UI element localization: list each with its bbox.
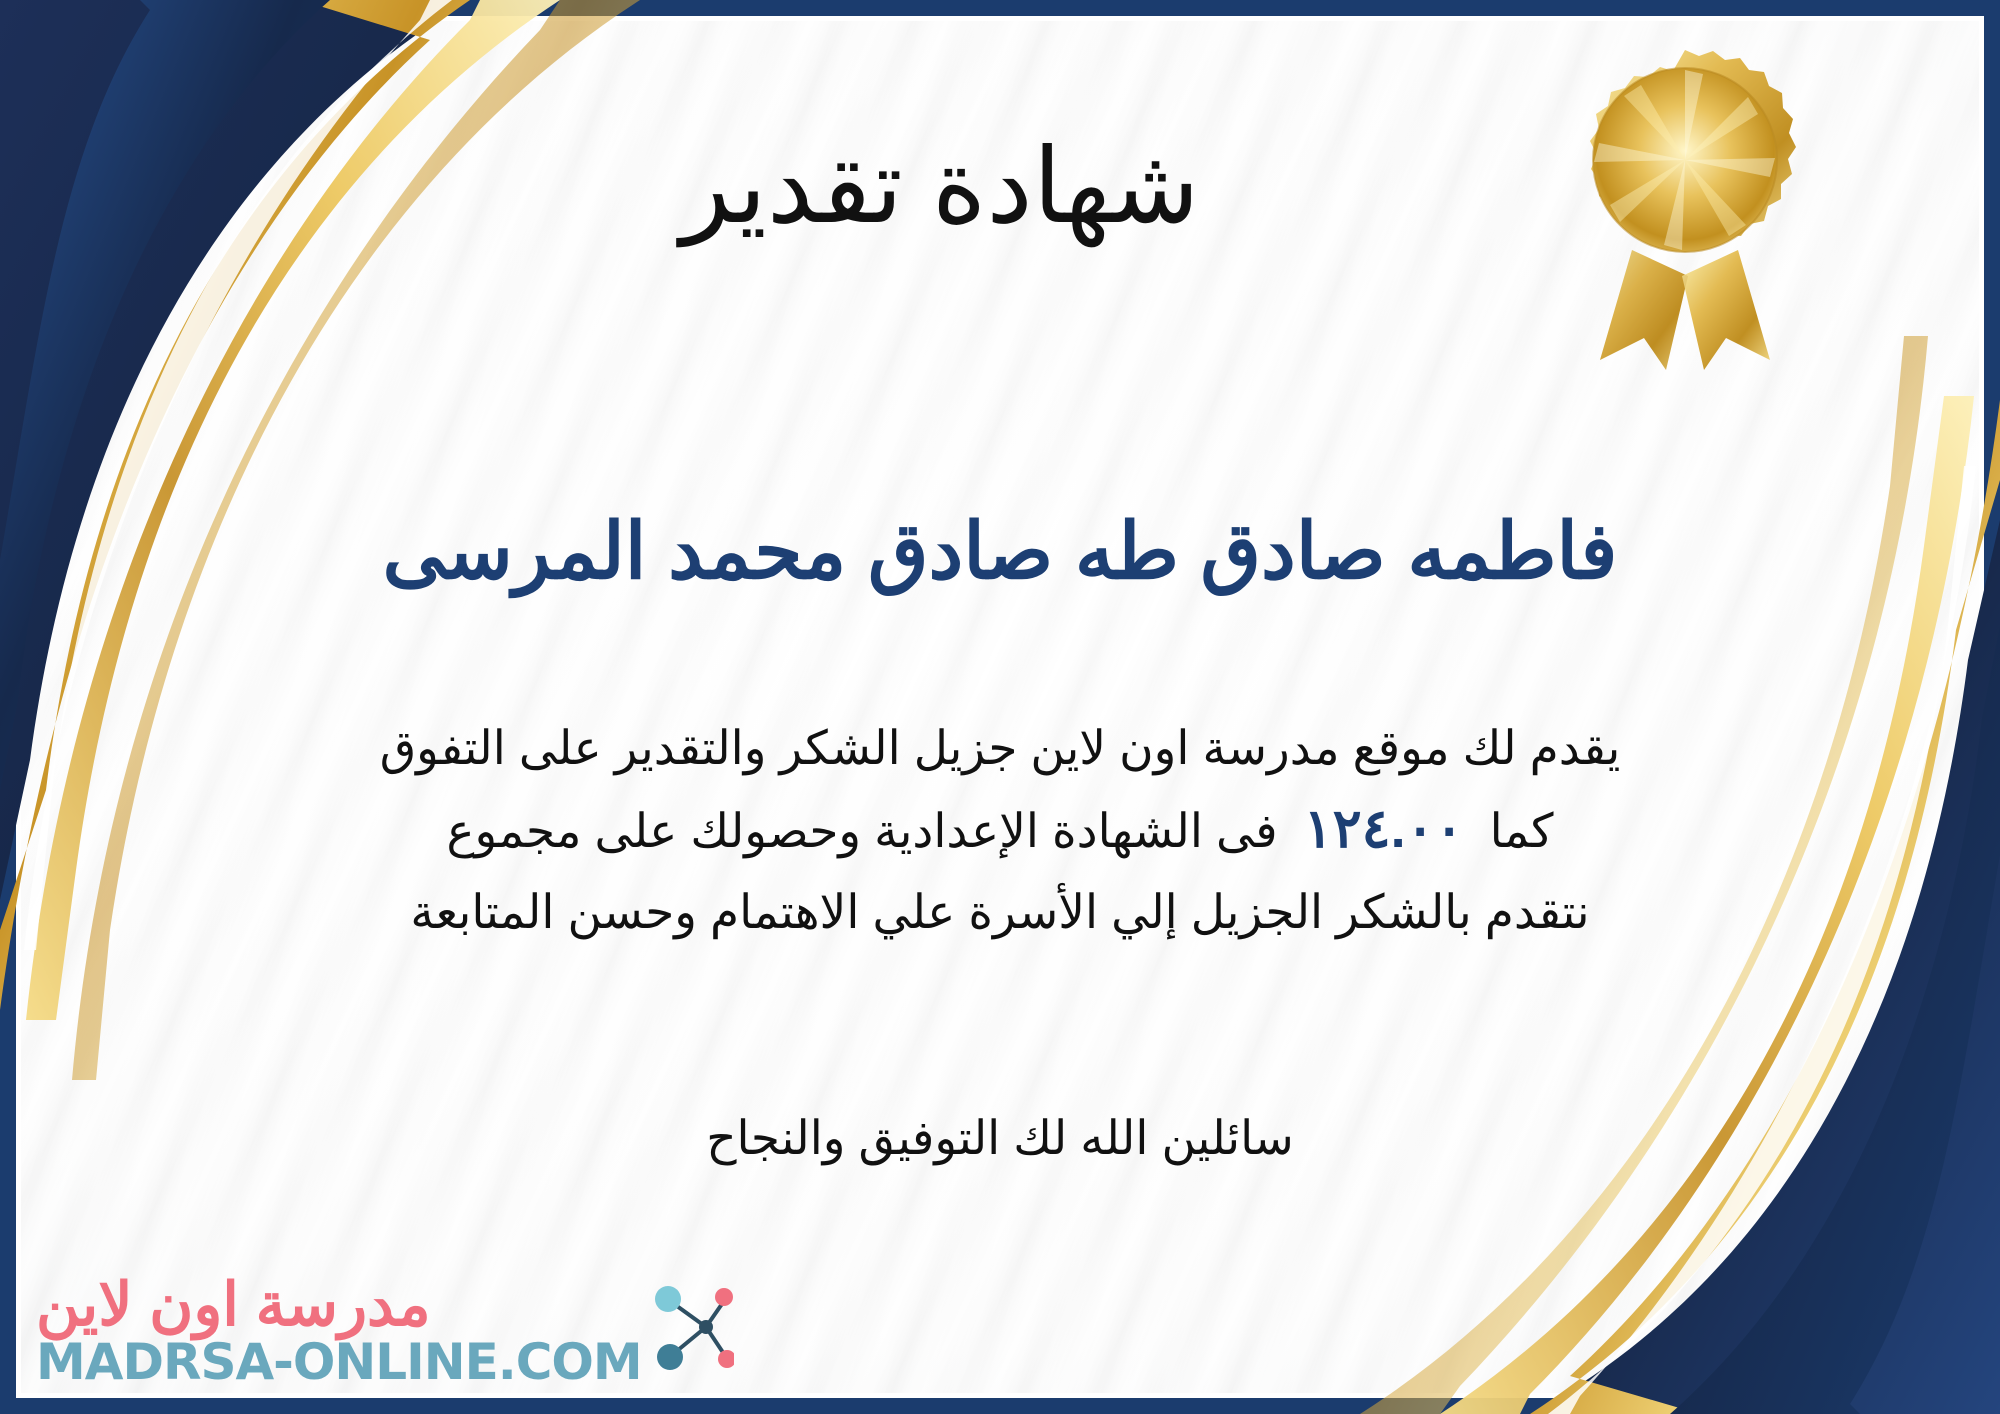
brand-logo-text: مدرسة اون لاين MADRSA-ONLINE.COM (36, 1273, 642, 1389)
body-line-1: يقدم لك موقع مدرسة اون لاين جزيل الشكر و… (60, 710, 1940, 786)
brand-name-arabic: مدرسة اون لاين (36, 1273, 431, 1336)
brand-logo[interactable]: مدرسة اون لاين MADRSA-ONLINE.COM (36, 1273, 734, 1389)
certificate-canvas: شهادة تقدير فاطمه صادق طه صادق محمد المر… (0, 0, 2000, 1414)
body-line-2-suffix: كما (1490, 804, 1554, 857)
gold-award-rosette-icon (1570, 40, 1800, 370)
body-line-2: كما١٢٤.٠٠فى الشهادة الإعدادية وحصولك على… (60, 786, 1940, 873)
recipient-name: فاطمه صادق طه صادق محمد المرسى (70, 505, 1930, 597)
closing-wish-text: سائلين الله لك التوفيق والنجاح (60, 1110, 1940, 1166)
certificate-body-text: يقدم لك موقع مدرسة اون لاين جزيل الشكر و… (60, 710, 1940, 950)
brand-domain: MADRSA-ONLINE.COM (36, 1336, 642, 1389)
network-nodes-icon (648, 1275, 734, 1385)
total-grade-value: ١٢٤.٠٠ (1278, 799, 1490, 859)
body-line-3: نتقدم بالشكر الجزيل إلي الأسرة علي الاهت… (60, 874, 1940, 950)
body-line-2-prefix: فى الشهادة الإعدادية وحصولك على مجموع (446, 804, 1277, 857)
